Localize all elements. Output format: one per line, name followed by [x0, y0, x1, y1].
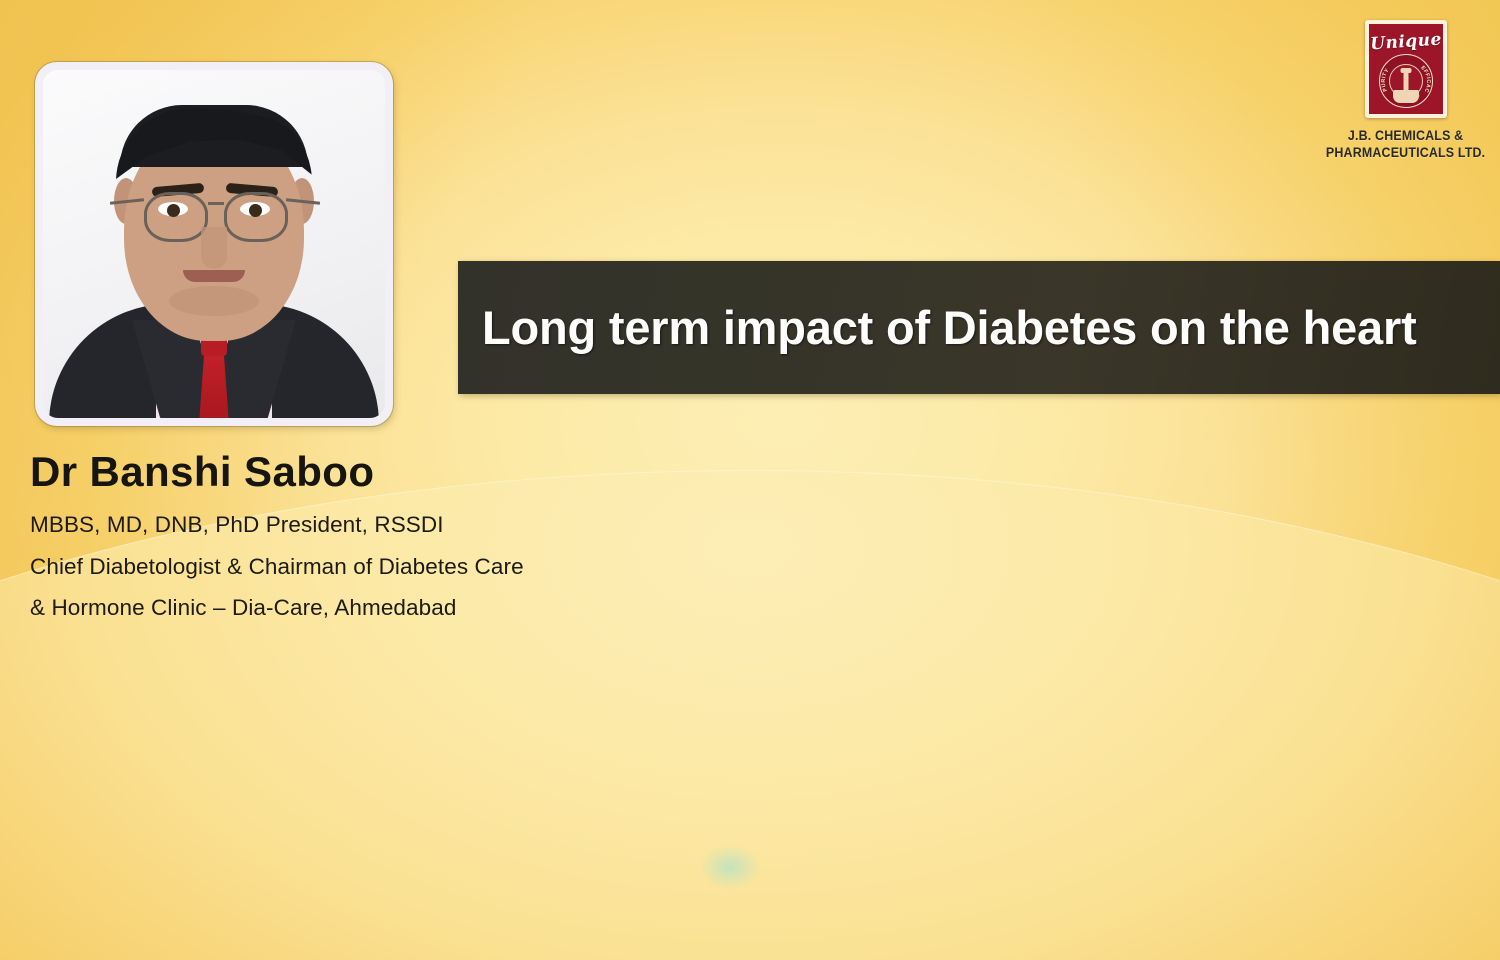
speaker-credentials: MBBS, MD, DNB, PhD President, RSSDI	[30, 514, 670, 537]
sponsor-company-line-2: PHARMACEUTICALS LTD.	[1326, 144, 1485, 161]
speaker-info: Dr Banshi Saboo MBBS, MD, DNB, PhD Presi…	[30, 448, 670, 620]
unique-brand-mark-icon: Unique PURITY EFFICACY STABILITY	[1365, 20, 1447, 118]
mortar-pestle-icon	[1389, 64, 1423, 98]
page-title: Long term impact of Diabetes on the hear…	[458, 300, 1417, 355]
speaker-name: Dr Banshi Saboo	[30, 448, 670, 495]
sponsor-company-line-1: J.B. CHEMICALS &	[1326, 127, 1485, 144]
speaker-role-line-1: Chief Diabetologist & Chairman of Diabet…	[30, 556, 670, 579]
unique-wordmark: Unique	[1368, 29, 1443, 54]
speaker-role-line-2: & Hormone Clinic – Dia-Care, Ahmedabad	[30, 597, 670, 620]
sponsor-logo: Unique PURITY EFFICACY STABILITY	[1317, 20, 1495, 161]
slide-title-bar: Long term impact of Diabetes on the hear…	[458, 261, 1500, 394]
presentation-slide: Long term impact of Diabetes on the hear…	[0, 0, 1500, 960]
quality-seal-icon: PURITY EFFICACY STABILITY	[1379, 54, 1433, 108]
speaker-photo-frame	[35, 62, 393, 426]
speaker-photo	[43, 70, 385, 418]
sponsor-company-name: J.B. CHEMICALS & PHARMACEUTICALS LTD.	[1326, 127, 1485, 161]
